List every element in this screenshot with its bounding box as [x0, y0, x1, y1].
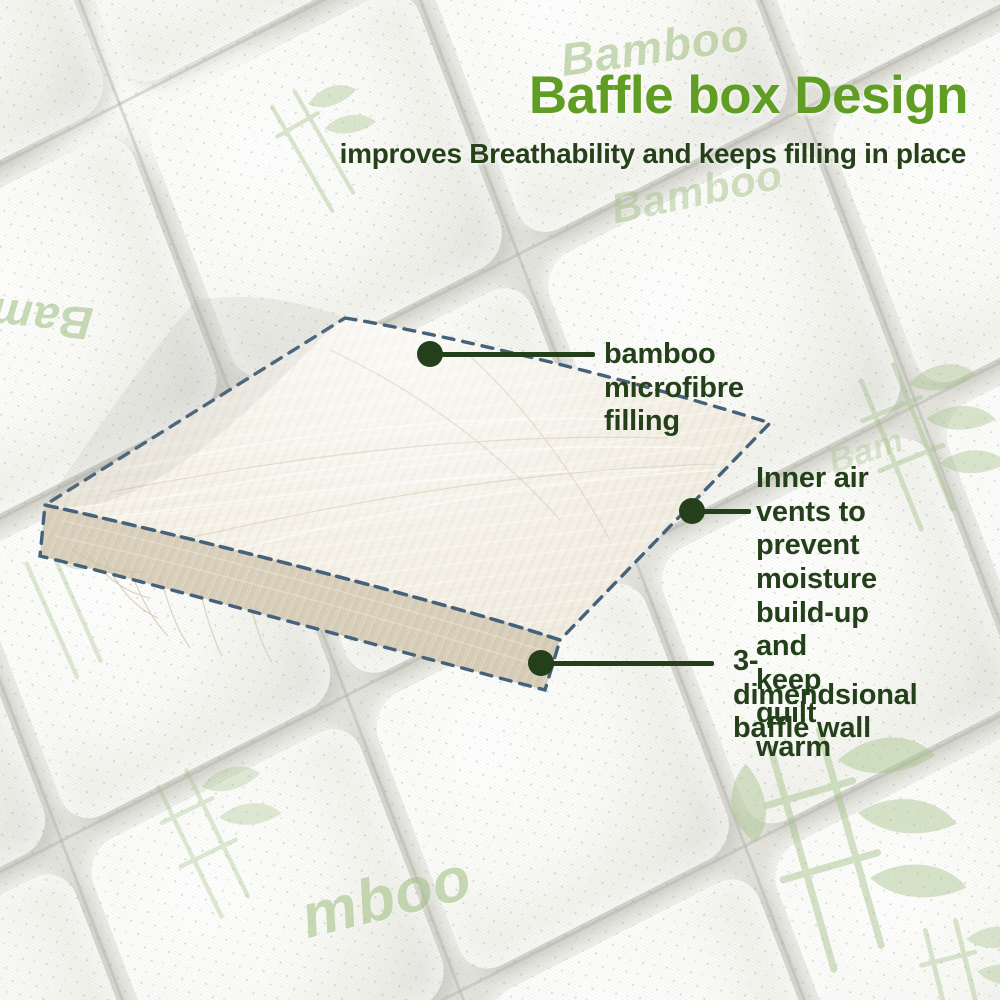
- callout-leader-line: [699, 509, 751, 514]
- product-infographic: Bamboo Bamboo Bam mboo Bam: [0, 0, 1000, 1000]
- callout-leader-line: [437, 352, 595, 357]
- callout-marker-dot: [528, 650, 554, 676]
- callout-marker-dot: [679, 498, 705, 524]
- callout-leader-line: [548, 661, 714, 666]
- callout-marker-dot: [417, 341, 443, 367]
- page-subtitle: improves Breathability and keeps filling…: [340, 140, 966, 168]
- callout-label: 3-dimendsional baffle wall: [733, 645, 918, 746]
- fabric-brand-word: Bam: [0, 287, 95, 351]
- callout-label: bamboo microfibre filling: [604, 338, 744, 439]
- page-title: Baffle box Design: [529, 69, 968, 122]
